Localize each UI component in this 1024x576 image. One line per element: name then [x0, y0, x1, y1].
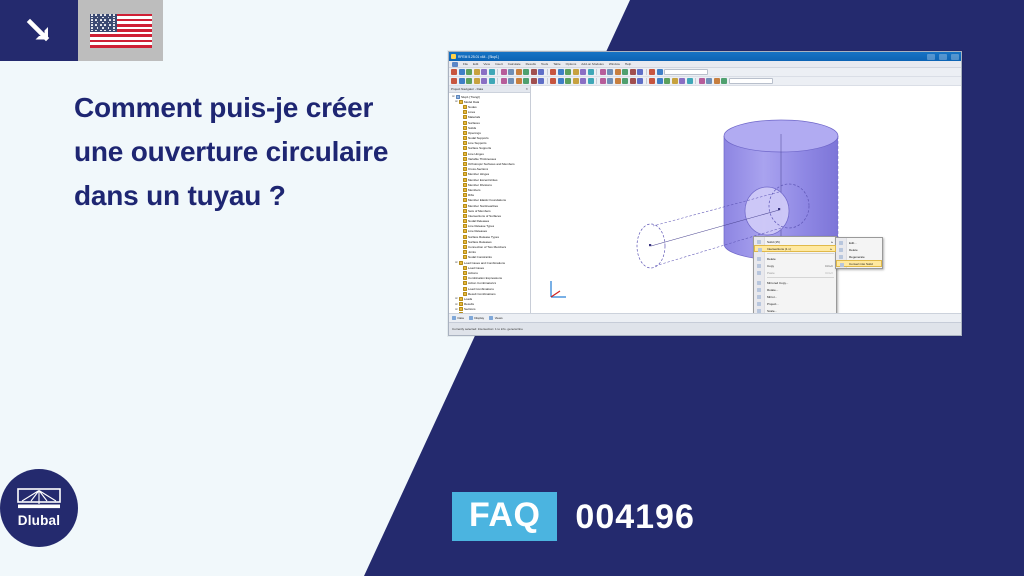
tree-item-label: Load Cases [468, 266, 484, 270]
bottom-tab-label: Data [458, 316, 464, 320]
app-titlebar: RFEM 5.25.01 x64 - [Slup1] [449, 52, 961, 61]
tree-expander-icon[interactable]: ⊞ [455, 312, 458, 313]
delete-icon [757, 257, 761, 261]
solid-icon [757, 240, 761, 244]
regenerate-icon [839, 255, 843, 259]
toolbar-button[interactable] [459, 69, 465, 75]
dlubal-wordmark: Dlubal [18, 514, 60, 528]
toolbar-button[interactable] [622, 69, 628, 75]
toolbar-button[interactable] [489, 69, 495, 75]
tree-item-label: Nodal Supports [468, 136, 489, 140]
bottom-tab[interactable]: Views [489, 316, 502, 320]
menu-item-tools[interactable]: Tools [541, 62, 548, 66]
context-menu-item[interactable]: Delete [836, 246, 882, 253]
toolbar-button[interactable] [516, 78, 522, 84]
context-menu-item-label: Copy [767, 264, 774, 268]
tree-folder-icon [459, 100, 463, 104]
toolbar-separator [497, 78, 498, 84]
flag-canton [90, 14, 117, 32]
context-menu-item[interactable]: Mirror... [754, 293, 836, 300]
tree-folder-icon [463, 115, 467, 119]
toolbar-button[interactable] [637, 69, 643, 75]
toolbar-button[interactable] [657, 78, 663, 84]
toolbar-separator [695, 78, 696, 84]
navigator-close-icon[interactable]: ✕ [525, 87, 528, 91]
tree-folder-icon [463, 131, 467, 135]
view-toolbar[interactable] [449, 77, 961, 86]
context-menu-item-label: Paste [767, 271, 775, 275]
menu-app-icon [452, 62, 458, 67]
toolbar-button[interactable] [580, 69, 586, 75]
context-submenu[interactable]: Edit...DeleteRegenerateConvert into Soli… [835, 237, 883, 269]
tree-item-label: Load Cases and Combinations [464, 261, 505, 265]
tree-folder-icon [463, 214, 467, 218]
flag-usa-icon [78, 0, 163, 61]
toolbar-button[interactable] [501, 78, 507, 84]
3d-model-pipe[interactable] [531, 86, 961, 313]
tree-item-label: Actions [468, 271, 478, 275]
page-title: Comment puis-je créer une ouverture circ… [74, 86, 404, 218]
tree-item-label: Surface Supports [468, 146, 491, 150]
context-menu-item[interactable]: Project... [754, 300, 836, 307]
close-button[interactable] [951, 54, 959, 60]
tree-folder-icon [463, 287, 467, 291]
menu-shortcut: Ctrl+C [825, 264, 833, 268]
context-menu-item-label: Scale... [767, 309, 777, 313]
context-menu-item-label: Project... [767, 302, 779, 306]
tree-item-label: Joints [468, 250, 476, 254]
bottom-panel: DataDisplayViews Currently selected: Int… [449, 313, 961, 335]
tree-item-label: Line Release Types [468, 224, 494, 228]
menu-item-table[interactable]: Table [553, 62, 560, 66]
tree-folder-icon [463, 204, 467, 208]
tree-folder-icon [463, 126, 467, 130]
toolbar-button[interactable] [699, 78, 705, 84]
mirror-copy-icon [757, 281, 761, 285]
menu-item-file[interactable]: File [463, 62, 468, 66]
toolbar-button[interactable] [508, 78, 514, 84]
context-menu-item[interactable]: Rotate... [754, 286, 836, 293]
context-menu-item[interactable]: Intersections (1 x)▸ [754, 245, 836, 252]
bottom-tab-label: Views [495, 316, 503, 320]
status-bar: Currently selected: Intersection: 1 to i… [449, 322, 961, 335]
tree-item-label: Surface Release Types [468, 235, 499, 239]
context-menu-item[interactable]: Solid (15)▸ [754, 238, 836, 245]
toolbar-button[interactable] [474, 78, 480, 84]
toolbar-button[interactable] [672, 78, 678, 84]
tree-item-label: Sets of Members [468, 209, 491, 213]
tree-folder-icon [463, 240, 467, 244]
dlubal-logo: Dlubal [0, 469, 78, 547]
delete-icon [839, 248, 843, 252]
toolbar-button[interactable] [501, 69, 507, 75]
tree-item-label: Intersections of Surfaces [468, 214, 501, 218]
bottom-tab[interactable]: Data [452, 316, 464, 320]
toolbar-separator [547, 78, 548, 84]
project-navigator[interactable]: Project Navigator - Data ✕ ⊞Slup1 [Trang… [449, 86, 531, 313]
tree-item-label: Line Hinges [468, 152, 484, 156]
tree-item-label: Ribs [468, 193, 474, 197]
context-menu-item-label: Convert into Solid [849, 262, 873, 266]
toolbar-separator [497, 69, 498, 75]
toolbar-button[interactable] [607, 78, 613, 84]
toolbar-button[interactable] [588, 78, 594, 84]
faq-number: 004196 [575, 497, 694, 537]
standard-toolbar[interactable] [449, 68, 961, 77]
context-menu[interactable]: Solid (15)▸Intersections (1 x)▸DeleteCop… [753, 236, 837, 313]
tree-item-label: Nodes [468, 105, 477, 109]
menu-item-help[interactable]: Help [625, 62, 631, 66]
context-menu-item[interactable]: Convert into Solid [836, 260, 882, 267]
dlubal-truss-icon [17, 488, 61, 512]
menu-item-view[interactable]: View [483, 62, 490, 66]
display-icon [469, 316, 473, 320]
tree-item-label: Average Regions [464, 312, 487, 313]
toolbar-button[interactable] [538, 78, 544, 84]
tree-item-label: Model Data [464, 100, 479, 104]
menu-item-calculate[interactable]: Calculate [508, 62, 521, 66]
toolbar-button[interactable] [550, 69, 556, 75]
tree-item-label: Line Supports [468, 141, 487, 145]
tree-folder-icon [459, 261, 463, 265]
maximize-button[interactable] [939, 54, 947, 60]
toolbar-button[interactable] [649, 78, 655, 84]
tree-item-label: Load Combinations [468, 287, 494, 291]
context-menu-item[interactable]: Delete [754, 255, 836, 262]
tree-item-label: Member Divisions [468, 183, 492, 187]
flag-graphic [90, 14, 152, 48]
toolbar-button[interactable] [474, 69, 480, 75]
tree-item-label: Loads [464, 297, 472, 301]
toolbar-button[interactable] [550, 78, 556, 84]
mirror-icon [757, 295, 761, 299]
faq-tag: FAQ [452, 492, 557, 541]
axis-triad-icon [547, 277, 569, 301]
convert-solid-icon [840, 263, 844, 267]
edit-icon [839, 241, 843, 245]
tree-folder-icon [463, 162, 467, 166]
toolbar-separator [646, 78, 647, 84]
toolbar-button[interactable] [721, 78, 727, 84]
tree-item-label: Surfaces [468, 121, 480, 125]
toolbar-button[interactable] [714, 78, 720, 84]
app-menubar[interactable]: File Edit View Insert Calculate Results … [449, 61, 961, 68]
tree-item-label: Connection of Two Members [468, 245, 506, 249]
tree-item-label: Openings [468, 131, 481, 135]
tree-folder-icon [463, 229, 467, 233]
toolbar-button[interactable] [489, 78, 495, 84]
tree-folder-icon [463, 245, 467, 249]
toolbar-button[interactable] [706, 78, 712, 84]
tree-folder-icon [456, 95, 460, 99]
toolbar-combo[interactable] [664, 69, 708, 75]
toolbar-separator [547, 69, 548, 75]
tree-folder-icon [463, 136, 467, 140]
context-menu-item-label: Rotate... [767, 288, 778, 292]
context-menu-item[interactable]: Edit... [836, 239, 882, 246]
tree-folder-icon [459, 307, 463, 311]
toolbar-button[interactable] [481, 78, 487, 84]
faq-bar: FAQ 004196 [452, 492, 695, 541]
tree-item-label: Materials [468, 115, 480, 119]
bottom-tab-label: Display [474, 316, 484, 320]
navigator-header: Project Navigator - Data ✕ [449, 86, 530, 93]
context-menu-item-label: Edit... [849, 241, 857, 245]
tree-folder-icon [463, 271, 467, 275]
tree-folder-icon [459, 302, 463, 306]
tree-folder-icon [463, 157, 467, 161]
rotate-icon [757, 288, 761, 292]
tree-folder-icon [463, 235, 467, 239]
project-icon [757, 302, 761, 306]
toolbar-combo[interactable] [729, 78, 773, 84]
context-menu-item[interactable]: CopyCtrl+C [754, 262, 836, 269]
toolbar-button[interactable] [573, 78, 579, 84]
tree-item-label: Cross-Sections [468, 167, 488, 171]
menu-separator [767, 277, 834, 278]
tree-folder-icon [463, 209, 467, 213]
tree-folder-icon [463, 276, 467, 280]
tree-item-label: Line Releases [468, 229, 487, 233]
toolbar-button[interactable] [531, 78, 537, 84]
context-menu-item[interactable]: Scale... [754, 307, 836, 313]
toolbar-button[interactable] [630, 78, 636, 84]
arrow-down-right-icon [0, 0, 78, 61]
copy-icon [757, 264, 761, 268]
rfem-app-icon [451, 54, 456, 59]
tree-item-label: Member Eccentricities [468, 178, 498, 182]
tree-item-label: Slup1 [Trangl] [461, 95, 480, 99]
tree-folder-icon [463, 172, 467, 176]
views-icon [489, 316, 493, 320]
toolbar-button[interactable] [451, 78, 457, 84]
toolbar-button[interactable] [637, 78, 643, 84]
toolbar-separator [596, 69, 597, 75]
tree-item-label: Orthotropic Surfaces and Members [468, 162, 515, 166]
context-menu-item-label: Solid (15) [767, 240, 780, 244]
menu-item-addon-modules[interactable]: Add-on Modules [581, 62, 604, 66]
toolbar-button[interactable] [664, 78, 670, 84]
toolbar-button[interactable] [573, 69, 579, 75]
toolbar-separator [596, 78, 597, 84]
toolbar-button[interactable] [538, 69, 544, 75]
tree-item-label: Result Combinations [468, 292, 496, 296]
chevron-right-icon: ▸ [831, 240, 833, 244]
model-viewport[interactable]: Solid (15)▸Intersections (1 x)▸DeleteCop… [531, 86, 961, 313]
toolbar-button[interactable] [459, 78, 465, 84]
tree-folder-icon [463, 250, 467, 254]
toolbar-button[interactable] [649, 69, 655, 75]
tree-expander-icon[interactable]: ⊞ [455, 99, 458, 104]
context-menu-item-label: Delete [767, 257, 776, 261]
toolbar-button[interactable] [523, 78, 529, 84]
application-screenshot: RFEM 5.25.01 x64 - [Slup1] File Edit Vie… [448, 51, 962, 336]
menu-item-options[interactable]: Options [566, 62, 577, 66]
toolbar-button[interactable] [630, 69, 636, 75]
tree-item[interactable]: ⊞Average Regions [450, 312, 530, 313]
toolbar-button[interactable] [607, 69, 613, 75]
tree-folder-icon [463, 110, 467, 114]
toolbar-button[interactable] [588, 69, 594, 75]
toolbar-button[interactable] [508, 69, 514, 75]
toolbar-button[interactable] [600, 69, 606, 75]
toolbar-separator [646, 69, 647, 75]
tree-folder-icon [463, 167, 467, 171]
tree-item-label: Member Hinges [468, 172, 489, 176]
toolbar-button[interactable] [600, 78, 606, 84]
menu-shortcut: Ctrl+V [825, 271, 833, 275]
tree-item-label: Sections [464, 307, 476, 311]
toolbar-button[interactable] [615, 78, 621, 84]
toolbar-button[interactable] [516, 69, 522, 75]
toolbar-button[interactable] [615, 69, 621, 75]
tree-folder-icon [463, 121, 467, 125]
tree-item-label: Surface Releases [468, 240, 492, 244]
menu-separator [767, 253, 834, 254]
context-menu-item[interactable]: Regenerate [836, 253, 882, 260]
toolbar-button[interactable] [565, 78, 571, 84]
menu-item-insert[interactable]: Insert [495, 62, 503, 66]
toolbar-button[interactable] [523, 69, 529, 75]
context-menu-item-label: Delete [849, 248, 858, 252]
tree-folder-icon [463, 105, 467, 109]
tree-item-label: Variable Thicknesses [468, 157, 496, 161]
data-icon [452, 316, 456, 320]
tree-folder-icon [459, 297, 463, 301]
tree-folder-icon [459, 312, 463, 313]
tree-item-label: Action Combinatorics [468, 281, 496, 285]
minimize-button[interactable] [927, 54, 935, 60]
tree-item-label: Results [464, 302, 474, 306]
context-menu-item-label: Mirrored Copy... [767, 281, 788, 285]
toolbar-button[interactable] [679, 78, 685, 84]
tree-folder-icon [463, 193, 467, 197]
navigator-tree[interactable]: ⊞Slup1 [Trangl]⊞Model DataNodesLinesMate… [449, 93, 530, 313]
bottom-tab[interactable]: Display [469, 316, 484, 320]
context-menu-item[interactable]: PasteCtrl+V [754, 269, 836, 276]
tree-folder-icon [463, 266, 467, 270]
tree-folder-icon [463, 146, 467, 150]
navigator-title: Project Navigator - Data [451, 87, 483, 91]
tree-item-label: Members [468, 188, 481, 192]
toolbar-button[interactable] [558, 69, 564, 75]
toolbar-button[interactable] [481, 69, 487, 75]
tree-item-label: Nodal Releases [468, 219, 489, 223]
tree-folder-icon [463, 188, 467, 192]
tree-folder-icon [463, 219, 467, 223]
bottom-tabs[interactable]: DataDisplayViews [449, 314, 961, 322]
tree-item-label: Member Nonlinearities [468, 204, 498, 208]
toolbar-button[interactable] [466, 78, 472, 84]
tree-folder-icon [463, 281, 467, 285]
menu-item-results[interactable]: Results [526, 62, 536, 66]
toolbar-button[interactable] [558, 78, 564, 84]
context-menu-item-label: Mirror... [767, 295, 777, 299]
paste-icon [757, 271, 761, 275]
tree-item-label: Combination Expressions [468, 276, 502, 280]
tree-folder-icon [463, 152, 467, 156]
window-controls[interactable] [927, 54, 959, 60]
toolbar-button[interactable] [565, 69, 571, 75]
tree-folder-icon [463, 178, 467, 182]
tree-item-label: Lines [468, 110, 475, 114]
menu-item-edit[interactable]: Edit [473, 62, 478, 66]
status-text: Currently selected: Intersection: 1 to i… [452, 327, 523, 331]
tree-expander-icon[interactable]: ⊞ [455, 260, 458, 265]
tree-folder-icon [463, 198, 467, 202]
intersection-icon [758, 248, 762, 252]
toolbar-button[interactable] [687, 78, 693, 84]
tree-folder-icon [463, 141, 467, 145]
context-menu-item-label: Intersections (1 x) [767, 247, 791, 251]
context-menu-item-label: Regenerate [849, 255, 865, 259]
toolbar-button[interactable] [657, 69, 663, 75]
app-body: Project Navigator - Data ✕ ⊞Slup1 [Trang… [449, 86, 961, 313]
toolbar-button[interactable] [466, 69, 472, 75]
chevron-right-icon: ▸ [830, 247, 832, 251]
tree-folder-icon [463, 292, 467, 296]
tree-item-label: Nodal Constraints [468, 255, 492, 259]
app-title: RFEM 5.25.01 x64 - [Slup1] [458, 55, 927, 59]
tree-item-label: Solids [468, 126, 476, 130]
header-block [0, 0, 163, 61]
tree-folder-icon [463, 224, 467, 228]
menu-item-window[interactable]: Window [609, 62, 620, 66]
tree-folder-icon [463, 183, 467, 187]
context-menu-item[interactable]: Mirrored Copy... [754, 279, 836, 286]
toolbar-button[interactable] [580, 78, 586, 84]
toolbar-button[interactable] [622, 78, 628, 84]
navigator-buttons[interactable]: ✕ [525, 87, 528, 91]
toolbar-button[interactable] [451, 69, 457, 75]
tree-folder-icon [463, 255, 467, 259]
toolbar-button[interactable] [531, 69, 537, 75]
tree-item-label: Member Elastic Foundations [468, 198, 506, 202]
scale-icon [757, 309, 761, 313]
